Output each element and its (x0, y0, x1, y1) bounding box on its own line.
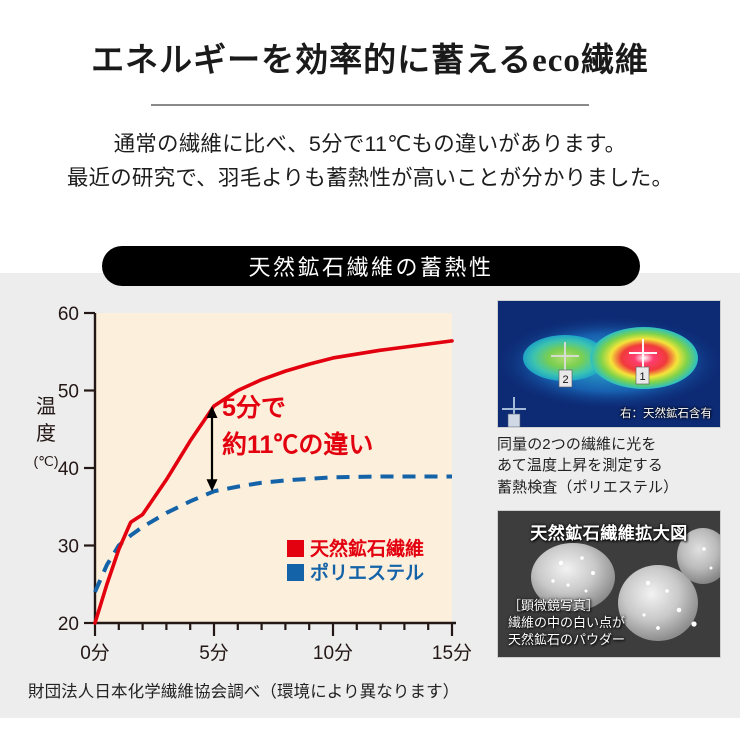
micro-caption-line-1: ［顕微鏡写真］ (508, 598, 625, 615)
microscope-photo-title: 天然鉱石繊維拡大図 (498, 519, 720, 544)
svg-text:30: 30 (58, 537, 79, 558)
annotation-line-2: 約11℃の違い (222, 430, 373, 459)
thermal-caption-line-1: 同量の2つの繊維に光を (497, 434, 723, 455)
chart-source-note: 財団法人日本化学繊維協会調べ（環境により異なります） (28, 678, 459, 702)
thermal-caption-line-2: あて温度上昇を測定する (497, 455, 723, 476)
svg-text:40: 40 (58, 459, 79, 480)
svg-text:20: 20 (58, 614, 79, 635)
y-axis-ticks (84, 313, 95, 623)
legend-swatch-polyester (287, 564, 304, 581)
svg-text:50: 50 (58, 382, 79, 403)
svg-text:2: 2 (562, 374, 568, 386)
thermal-photo-caption: 同量の2つの繊維に光を あて温度上昇を測定する 蓄熱検査（ポリエステル） (497, 434, 723, 498)
svg-text:0分: 0分 (80, 642, 110, 664)
annotation-line-1: 5分で (222, 394, 286, 422)
microscope-photo-caption: ［顕微鏡写真］ 繊維の中の白い点が 天然鉱石のパウダー (508, 598, 625, 649)
y-axis-title-char-2: 度 (36, 422, 56, 445)
svg-text:10分: 10分 (313, 642, 353, 664)
legend-swatch-mineral (287, 540, 304, 557)
lede-text: 通常の繊維に比べ、5分で11℃もの違いがあります。 最近の研究で、羽毛よりも蓄熱… (0, 127, 740, 197)
microscope-photo: 天然鉱石繊維拡大図 ［顕微鏡写真］ 繊維の中の白い点が 天然鉱石のパウダー (497, 510, 721, 658)
chart-panel: 天然鉱石繊維の蓄熱性 2030405060 0分5分10分15分 温 度 (℃) (0, 273, 740, 718)
y-axis-title-char-1: 温 (36, 395, 56, 418)
thermal-photo-overlay-caption: 右：天然鉱石含有 (620, 405, 712, 421)
legend-label-polyester: ポリエステル (310, 561, 424, 584)
x-axis-labels: 0分5分10分15分 (80, 642, 472, 664)
svg-text:60: 60 (58, 304, 79, 325)
thermal-photo: 1 2 右：天然鉱石含有 (497, 300, 721, 428)
photo-column: 1 2 右：天然鉱石含有 同量の2つの繊維に光を あて温度上昇を測定する (497, 300, 723, 658)
svg-text:15分: 15分 (432, 642, 472, 664)
micro-caption-line-2: 繊維の中の白い点が (508, 615, 625, 632)
svg-text:5分: 5分 (199, 642, 229, 664)
y-axis-unit: (℃) (33, 453, 58, 469)
x-axis-ticks (95, 623, 452, 636)
title-divider (151, 104, 589, 106)
lede-line-1: 通常の繊維に比べ、5分で11℃もの違いがあります。 (0, 127, 740, 162)
thermal-retention-chart: 2030405060 0分5分10分15分 温 度 (℃) 5分で 約11℃の違… (0, 273, 490, 718)
chart-svg: 2030405060 0分5分10分15分 温 度 (℃) 5分で 約11℃の違… (0, 273, 490, 718)
thermal-caption-line-3: 蓄熱検査（ポリエステル） (497, 477, 723, 498)
y-axis-labels: 2030405060 (58, 304, 79, 635)
page-title: エネルギーを効率的に蓄えるeco繊維 (0, 42, 740, 82)
legend-label-mineral: 天然鉱石繊維 (310, 537, 424, 560)
page-header: エネルギーを効率的に蓄えるeco繊維 通常の繊維に比べ、5分で11℃もの違いがあ… (0, 0, 740, 196)
micro-caption-line-3: 天然鉱石のパウダー (508, 632, 625, 649)
lede-line-2: 最近の研究で、羽毛よりも蓄熱性が高いことが分かりました。 (0, 161, 740, 196)
svg-text:1: 1 (639, 371, 645, 383)
